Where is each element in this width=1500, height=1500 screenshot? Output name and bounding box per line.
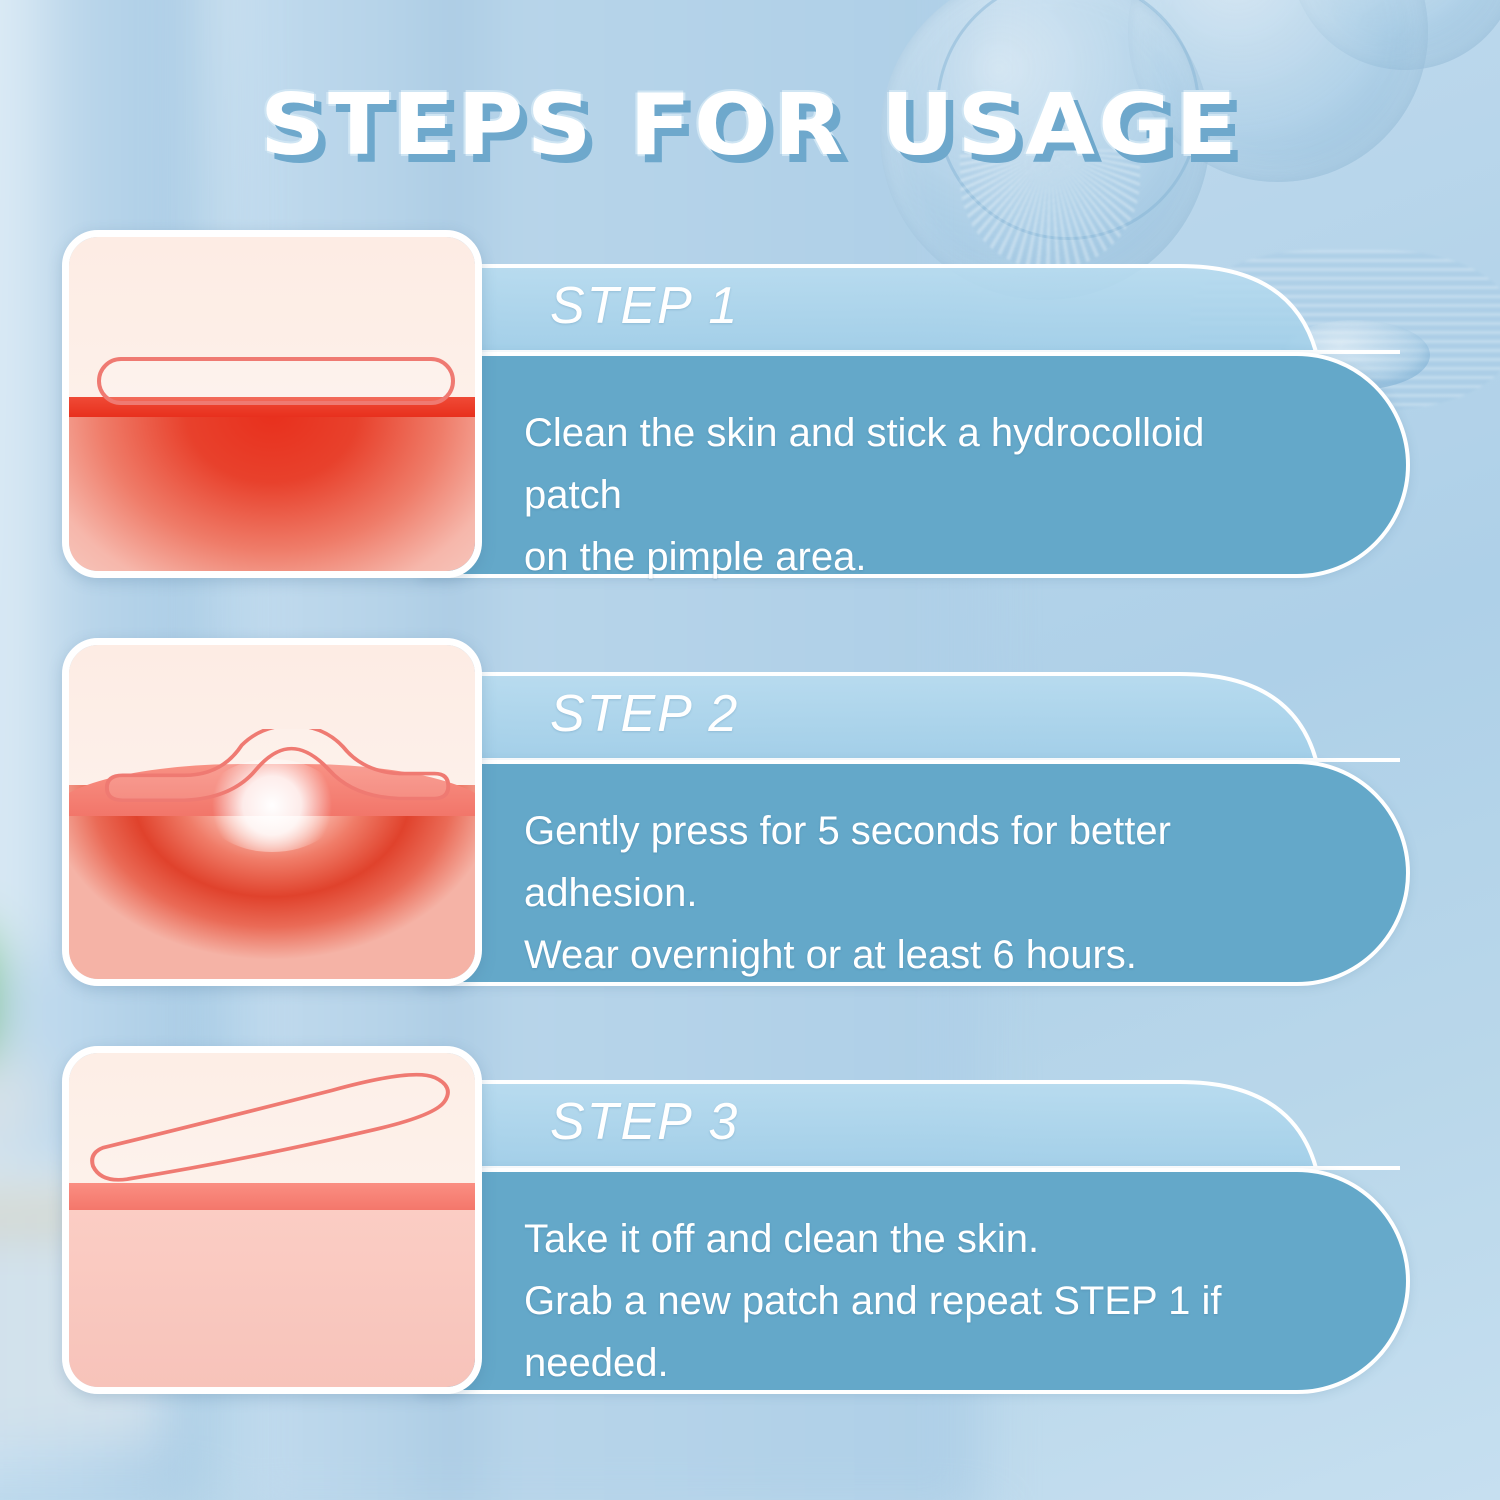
step-text-line: Gently press for 5 seconds for better ad…	[524, 800, 1296, 924]
page-title: STEPS FOR USAGE	[0, 76, 1500, 175]
step-text-panel-1: Clean the skin and stick a hydrocolloid …	[420, 352, 1410, 578]
step-label-1: STEP 1	[550, 276, 739, 336]
hydrocolloid-patch-icon	[97, 357, 454, 405]
step-text-2: Gently press for 5 seconds for better ad…	[524, 800, 1296, 986]
step-text-line: Grab a new patch and repeat STEP 1 if ne…	[524, 1270, 1296, 1394]
step-illustration-3	[62, 1046, 482, 1394]
hydrocolloid-patch-peeling-icon	[81, 1070, 463, 1190]
hydrocolloid-patch-icon	[93, 729, 450, 809]
step-label-3: STEP 3	[550, 1092, 739, 1152]
step-text-line: on the pimple area.	[524, 526, 1296, 588]
calm-skin-layer	[69, 1210, 475, 1387]
step-text-line: Clean the skin and stick a hydrocolloid …	[524, 402, 1296, 526]
step-banner-1: STEP 1	[420, 262, 1400, 354]
step-text-panel-2: Gently press for 5 seconds for better ad…	[420, 760, 1410, 986]
step-text-line: Wear overnight or at least 6 hours.	[524, 924, 1296, 986]
step-text-3: Take it off and clean the skin. Grab a n…	[524, 1208, 1296, 1394]
inflamed-skin-layer	[69, 397, 475, 571]
step-banner-3: STEP 3	[420, 1078, 1400, 1170]
step-text-1: Clean the skin and stick a hydrocolloid …	[524, 402, 1296, 588]
step-illustration-2	[62, 638, 482, 986]
step-label-2: STEP 2	[550, 684, 739, 744]
step-banner-2: STEP 2	[420, 670, 1400, 762]
infographic-canvas: STEPS FOR USAGE STEP 1 Clean the skin an…	[0, 0, 1500, 1500]
step-text-panel-3: Take it off and clean the skin. Grab a n…	[420, 1168, 1410, 1394]
step-illustration-1	[62, 230, 482, 578]
step-text-line: Take it off and clean the skin.	[524, 1208, 1296, 1270]
